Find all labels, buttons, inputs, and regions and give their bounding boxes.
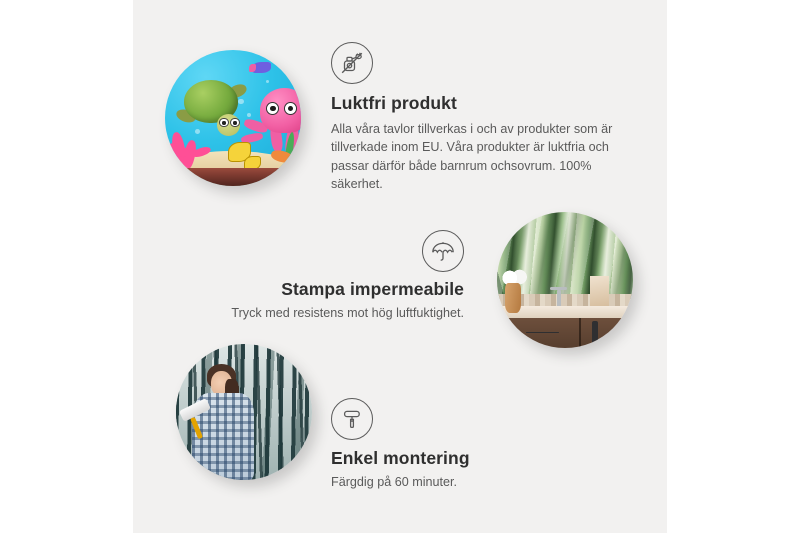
feature-mounting: Enkel montering Färgdig på 60 minuter. [331,398,601,491]
feature-description: Färgdig på 60 minuter. [331,473,601,491]
octopus-eye-icon [284,102,297,115]
photo-forest-inner [176,344,312,480]
mural-bottom-edge [165,168,301,186]
no-fragrance-icon [331,42,373,84]
feature-title: Luktfri produkt [331,93,623,114]
bubble-icon [195,129,200,134]
vanity-cabinet [505,318,633,348]
feature-waterproof: Stampa impermeabile Tryck med resistens … [214,230,464,322]
drawer-handle [526,332,559,334]
photo-ocean-inner [165,50,301,186]
fish-tail-icon [249,64,256,72]
umbrella-icon [422,230,464,272]
vase [505,283,521,313]
screenshot-canvas: Luktfri produkt Alla våra tavlor tillver… [0,0,800,533]
product-photo-bathroom-wallpaper[interactable] [497,212,633,348]
paint-roller-icon [331,398,373,440]
octopus-eye-icon [266,102,279,115]
feature-description: Tryck med resistens mot hög luftfuktighe… [214,304,464,322]
cabinet-seam [579,318,581,348]
door-handle [592,321,598,344]
faucet-icon [557,290,561,308]
product-photo-forest-wallpaper[interactable] [176,344,312,480]
tissue-box [590,276,609,307]
product-photo-underwater-mural[interactable] [165,50,301,186]
feature-title: Enkel montering [331,448,601,469]
bubble-icon [247,113,251,117]
feature-title: Stampa impermeabile [214,279,464,300]
photo-bathroom-inner [497,212,633,348]
feature-odourless: Luktfri produkt Alla våra tavlor tillver… [331,42,623,194]
feature-description: Alla våra tavlor tillverkas i och av pro… [331,120,623,194]
